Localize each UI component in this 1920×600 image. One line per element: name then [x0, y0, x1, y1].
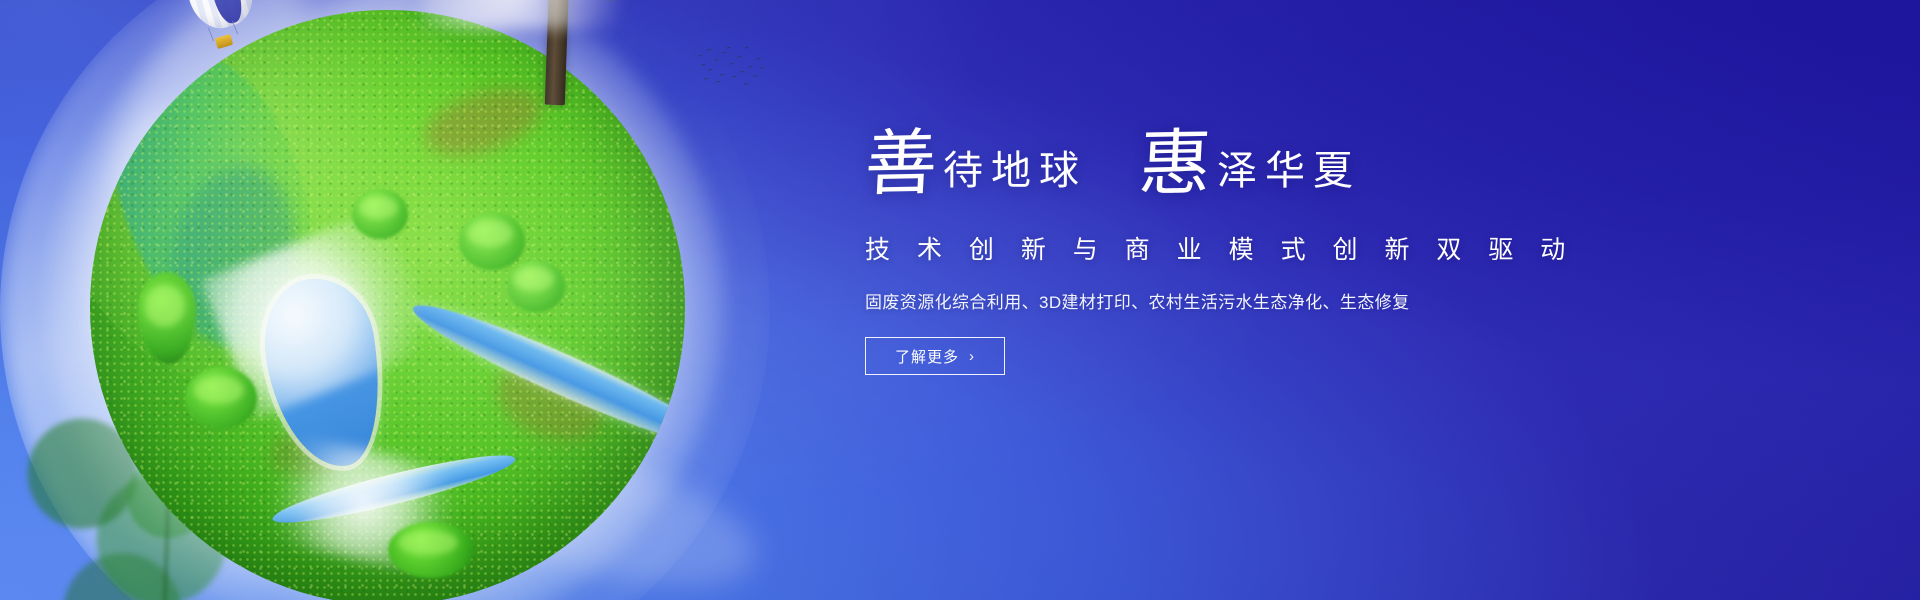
hero-description: 固废资源化综合利用、3D建材打印、农村生活污水生态净化、生态修复: [865, 288, 1585, 313]
hero-banner: 善 待地球 惠 泽华夏 技 术 创 新 与 商 业 模 式 创 新 双 驱 动 …: [0, 0, 1920, 600]
headline-text-1: 待地球: [943, 151, 1087, 191]
chevron-right-icon: ›: [969, 349, 975, 364]
headline-accent-char-1: 善: [863, 127, 939, 200]
hero-headline: 善 待地球 惠 泽华夏: [865, 128, 1585, 200]
learn-more-label: 了解更多: [895, 346, 959, 367]
hero-subtitle: 技 术 创 新 与 商 业 模 式 创 新 双 驱 动: [865, 230, 1585, 266]
headline-text-2: 泽华夏: [1217, 151, 1361, 191]
hero-content: 善 待地球 惠 泽华夏 技 术 创 新 与 商 业 模 式 创 新 双 驱 动 …: [865, 128, 1585, 375]
learn-more-button[interactable]: 了解更多 ›: [865, 337, 1005, 375]
headline-accent-char-2: 惠: [1137, 127, 1213, 200]
